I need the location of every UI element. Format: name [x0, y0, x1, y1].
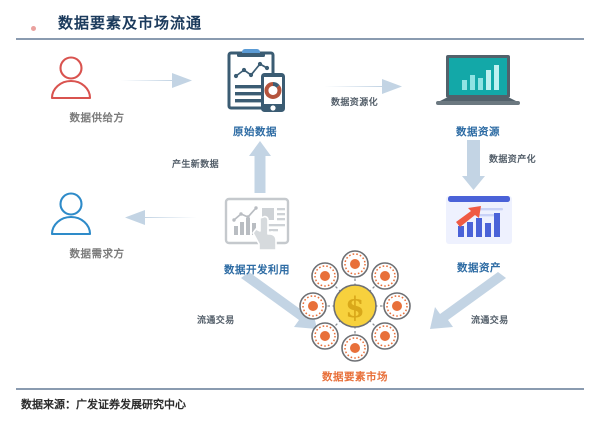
- page-title: 数据要素及市场流通: [58, 12, 202, 33]
- clipboard-phone-icon: [206, 46, 304, 120]
- node-raw-data[interactable]: 原始数据: [206, 46, 304, 139]
- node-data-supplier[interactable]: 数据供给方: [48, 54, 146, 125]
- node-data-element-market[interactable]: $ 数据要素市场: [297, 248, 413, 384]
- header: 数据要素及市场流通: [0, 0, 600, 38]
- source-note: 数据来源：广发证券发展研究中心: [21, 396, 186, 412]
- growth-board-icon: [424, 192, 534, 254]
- connector-label-circulation-transaction-left: 流通交易: [197, 313, 235, 326]
- footer-divider: [16, 388, 584, 390]
- diagram-canvas: 数据要素及市场流通 数据资源化 数据资产化 产生新数据 流通交易 流通交易: [0, 0, 600, 423]
- node-label-data-asset: 数据资产: [424, 260, 534, 275]
- svg-text:$: $: [345, 291, 364, 324]
- node-label-data-element-market: 数据要素市场: [297, 369, 413, 384]
- connector-label-circulation-transaction-right: 流通交易: [471, 313, 509, 326]
- node-data-resource[interactable]: 数据资源: [422, 52, 534, 139]
- person-icon: [48, 54, 146, 102]
- node-data-asset[interactable]: 数据资产: [424, 192, 534, 275]
- node-label-data-supplier: 数据供给方: [48, 110, 146, 125]
- node-label-data-demander: 数据需求方: [48, 246, 146, 261]
- header-divider: [16, 38, 584, 40]
- laptop-chart-icon: [422, 52, 534, 116]
- node-label-raw-data: 原始数据: [206, 124, 304, 139]
- arrow-resource-to-asset: [462, 138, 486, 194]
- connector-label-generate-new-data: 产生新数据: [172, 157, 219, 170]
- connector-label-data-assetization: 数据资产化: [489, 152, 536, 165]
- arrow-develop-to-raw-data: [249, 139, 271, 195]
- arrow-asset-to-market: [420, 272, 510, 336]
- money-network-icon: $: [297, 248, 413, 368]
- connector-label-data-resourcification: 数据资源化: [331, 95, 378, 108]
- node-label-data-resource: 数据资源: [422, 124, 534, 139]
- node-data-demander[interactable]: 数据需求方: [48, 190, 146, 261]
- person-icon: [48, 190, 146, 238]
- title-bullet-icon: [31, 26, 36, 31]
